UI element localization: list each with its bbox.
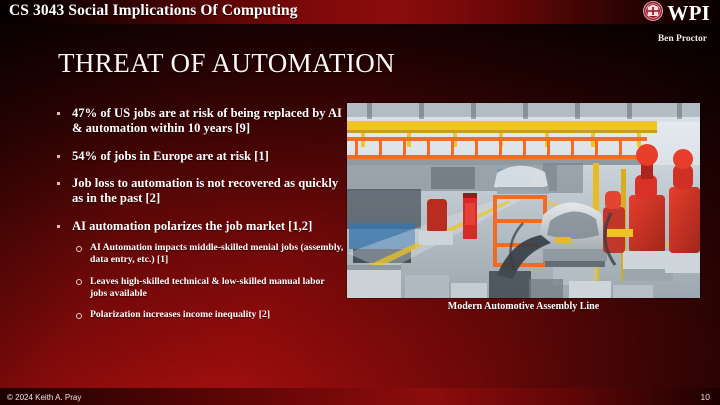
footer-bar	[0, 388, 720, 405]
bullet-marker-icon	[57, 182, 60, 185]
sub-bullet-text: AI Automation impacts middle-skilled men…	[90, 242, 343, 265]
bullet-text: 47% of US jobs are at risk of being repl…	[72, 106, 342, 135]
copyright-text: © 2024 Keith A. Pray	[7, 393, 81, 402]
bullet-marker-icon	[57, 225, 60, 228]
sub-bullet-item: AI Automation impacts middle-skilled men…	[74, 242, 344, 266]
wpi-seal-icon	[643, 1, 663, 26]
page-number: 10	[701, 392, 710, 402]
bullet-text: Job loss to automation is not recovered …	[72, 176, 338, 205]
photo-caption: Modern Automotive Assembly Line	[347, 301, 700, 312]
assembly-line-photo	[347, 103, 700, 298]
sub-bullet-marker-icon	[76, 313, 82, 319]
bullet-item: AI automation polarizes the job market […	[52, 219, 344, 234]
sub-bullet-item: Leaves high-skilled technical & low-skil…	[74, 276, 344, 300]
sub-bullet-text: Leaves high-skilled technical & low-skil…	[90, 276, 325, 299]
wpi-brand: WPI	[643, 1, 710, 26]
bullet-item: Job loss to automation is not recovered …	[52, 176, 344, 207]
page-title: THREAT OF AUTOMATION	[58, 48, 395, 79]
bullet-marker-icon	[57, 112, 60, 115]
bullet-marker-icon	[57, 155, 60, 158]
sub-bullet-marker-icon	[76, 246, 82, 252]
bullet-item: 47% of US jobs are at risk of being repl…	[52, 106, 344, 137]
sub-bullet-list: AI Automation impacts middle-skilled men…	[52, 242, 344, 321]
bullet-list: 47% of US jobs are at risk of being repl…	[52, 106, 344, 330]
bullet-text: 54% of jobs in Europe are at risk [1]	[72, 149, 269, 163]
bullet-text: AI automation polarizes the job market […	[72, 219, 312, 233]
sub-bullet-text: Polarization increases income inequality…	[90, 309, 270, 320]
sub-bullet-item: Polarization increases income inequality…	[74, 309, 344, 321]
author-name: Ben Proctor	[658, 34, 707, 44]
sub-bullet-marker-icon	[76, 279, 82, 285]
bullet-item: 54% of jobs in Europe are at risk [1]	[52, 149, 344, 164]
course-title: CS 3043 Social Implications Of Computing	[9, 2, 298, 20]
slide: CS 3043 Social Implications Of Computing…	[0, 0, 720, 405]
wpi-wordmark: WPI	[667, 3, 710, 24]
